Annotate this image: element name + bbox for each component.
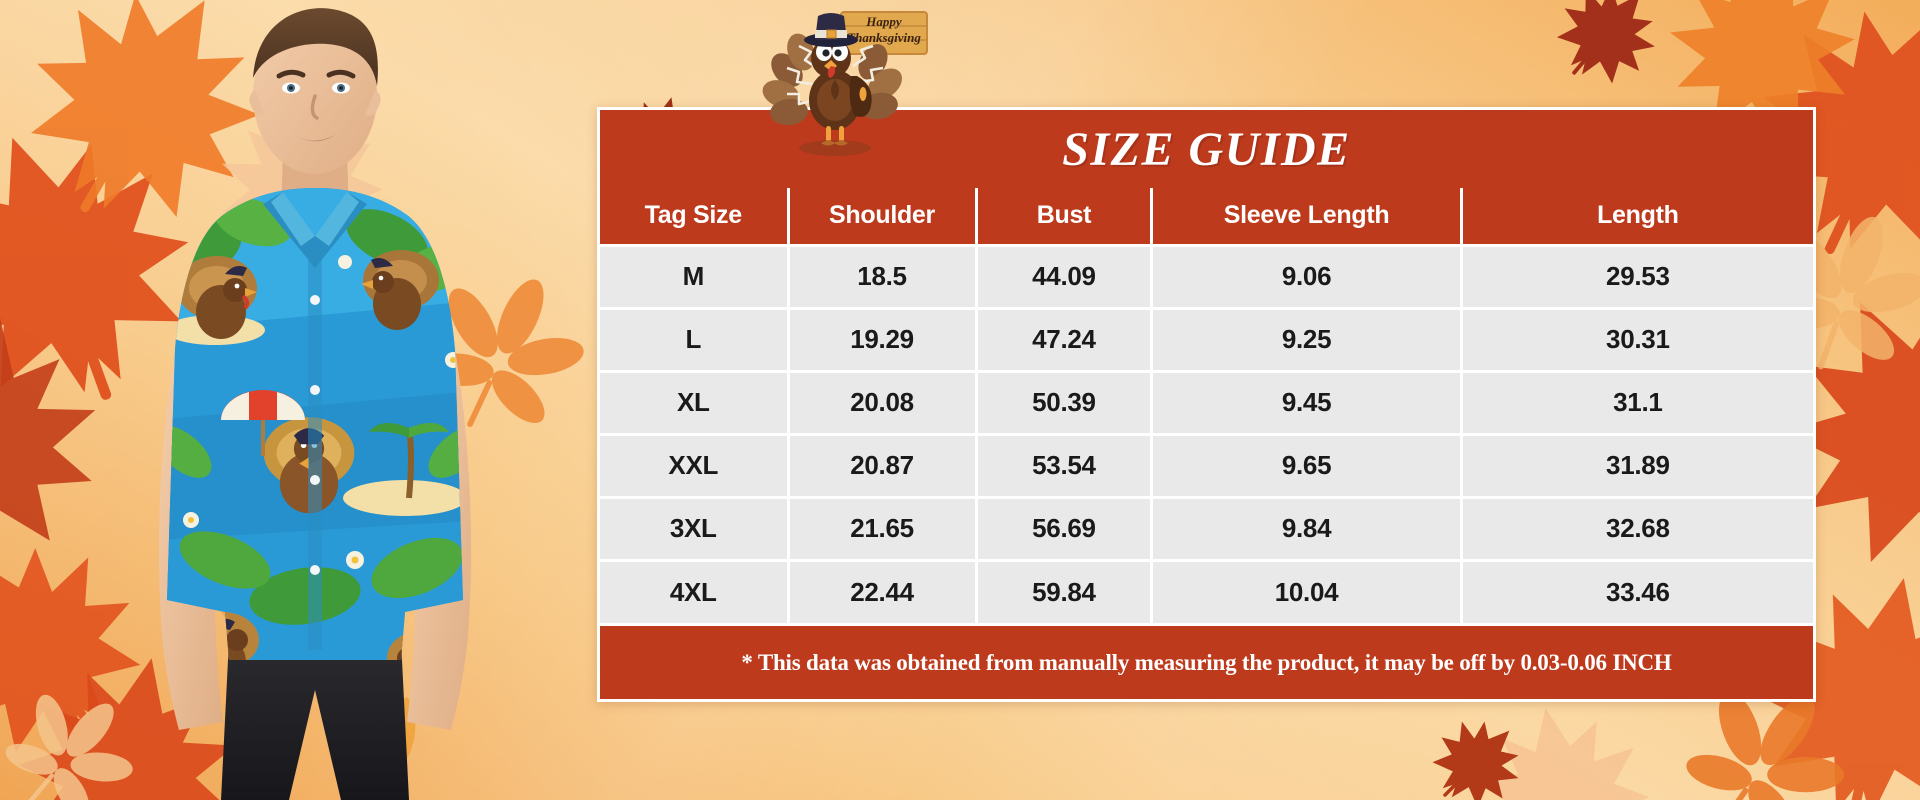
disclaimer-text: * This data was obtained from manually m… [741,650,1671,676]
sign-line-2: Thanksgiving [847,30,921,45]
cell-shoulder: 22.44 [788,560,976,623]
column-header-bust: Bust [976,188,1152,245]
table-row: 4XL 22.44 59.84 10.04 33.46 [600,560,1813,623]
cell-tag-size: M [600,245,788,308]
cell-tag-size: L [600,308,788,371]
cell-sleeve-length: 9.65 [1152,434,1461,497]
size-guide-table: Tag Size Shoulder Bust Sleeve Length Len… [600,188,1813,623]
cell-sleeve-length: 9.84 [1152,497,1461,560]
column-header-sleeve-length: Sleeve Length [1152,188,1461,245]
measurement-disclaimer: * This data was obtained from manually m… [600,623,1813,699]
cell-bust: 50.39 [976,371,1152,434]
cell-length: 32.68 [1461,497,1813,560]
cell-bust: 47.24 [976,308,1152,371]
sign-line-1: Happy [865,14,902,29]
cell-tag-size: 4XL [600,560,788,623]
table-row: XL 20.08 50.39 9.45 31.1 [600,371,1813,434]
table-row: L 19.29 47.24 9.25 30.31 [600,308,1813,371]
cell-sleeve-length: 9.25 [1152,308,1461,371]
cell-shoulder: 21.65 [788,497,976,560]
table-row: 3XL 21.65 56.69 9.84 32.68 [600,497,1813,560]
thanksgiving-turkey-mascot-icon: Happy Thanksgiving [745,0,975,161]
cell-tag-size: XL [600,371,788,434]
column-header-shoulder: Shoulder [788,188,976,245]
cell-length: 29.53 [1461,245,1813,308]
cell-length: 30.31 [1461,308,1813,371]
column-header-length: Length [1461,188,1813,245]
cell-shoulder: 19.29 [788,308,976,371]
cell-tag-size: 3XL [600,497,788,560]
cell-bust: 56.69 [976,497,1152,560]
table-header-row: Tag Size Shoulder Bust Sleeve Length Len… [600,188,1813,245]
cell-length: 33.46 [1461,560,1813,623]
cell-length: 31.1 [1461,371,1813,434]
page-title: SIZE GUIDE [1062,122,1350,177]
size-guide-card: SIZE GUIDE Tag Size Shoulder Bust Sleeve… [597,107,1816,702]
cell-bust: 53.54 [976,434,1152,497]
cell-bust: 44.09 [976,245,1152,308]
cell-shoulder: 20.87 [788,434,976,497]
cell-shoulder: 18.5 [788,245,976,308]
cell-tag-size: XXL [600,434,788,497]
column-header-tag-size: Tag Size [600,188,788,245]
cell-length: 31.89 [1461,434,1813,497]
cell-sleeve-length: 9.45 [1152,371,1461,434]
cell-bust: 59.84 [976,560,1152,623]
table-row: M 18.5 44.09 9.06 29.53 [600,245,1813,308]
model-photo [105,0,525,800]
cell-shoulder: 20.08 [788,371,976,434]
cell-sleeve-length: 9.06 [1152,245,1461,308]
cell-sleeve-length: 10.04 [1152,560,1461,623]
table-row: XXL 20.87 53.54 9.65 31.89 [600,434,1813,497]
